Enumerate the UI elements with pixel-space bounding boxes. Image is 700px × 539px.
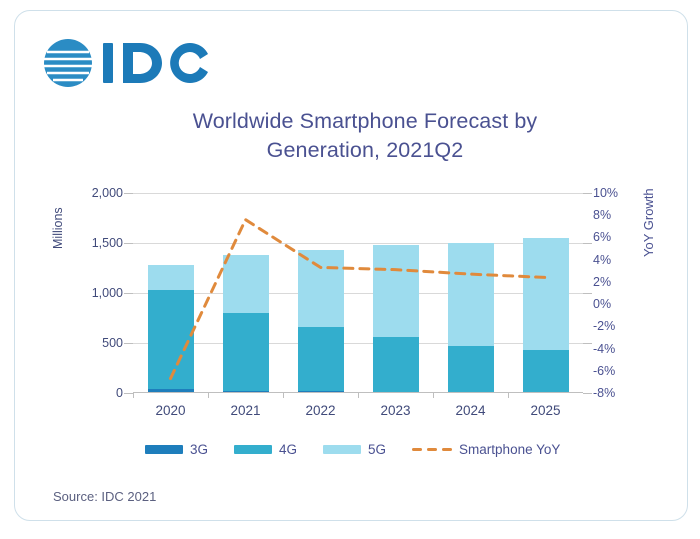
y-axis-tick: [124, 193, 133, 194]
bar-column: [523, 238, 569, 393]
legend-dashed-line-icon: [412, 444, 452, 455]
x-axis-tick: [133, 393, 134, 398]
bar-column: [298, 250, 344, 393]
x-axis-tick-label: 2025: [530, 403, 560, 418]
legend-swatch-5g: [323, 445, 361, 454]
legend-label: 4G: [279, 442, 297, 457]
bar-segment-5g: [448, 243, 494, 346]
legend-swatch-3g: [145, 445, 183, 454]
x-axis-tick: [358, 393, 359, 398]
legend-item[interactable]: 5G: [323, 442, 386, 457]
bar-segment-4g: [148, 290, 194, 389]
chart-title-line1: Worldwide Smartphone Forecast by: [135, 107, 595, 136]
y-axis-right-tick: [583, 293, 592, 294]
x-axis-tick-label: 2021: [230, 403, 260, 418]
bar-segment-4g: [373, 337, 419, 392]
chart-title: Worldwide Smartphone Forecast by Generat…: [135, 107, 595, 165]
legend-item[interactable]: 3G: [145, 442, 208, 457]
bar-segment-5g: [148, 265, 194, 290]
bar-segment-5g: [373, 245, 419, 337]
y-axis-left-tick-label: 2,000: [92, 186, 123, 200]
y-axis-right-tick-label: 8%: [593, 208, 611, 222]
y-axis-right-tick-label: 2%: [593, 275, 611, 289]
y-axis-left-tick-label: 1,000: [92, 286, 123, 300]
y-axis-left-tick-label: 500: [102, 336, 123, 350]
bar-column: [448, 243, 494, 393]
bar-segment-5g: [298, 250, 344, 327]
y-axis-tick: [124, 243, 133, 244]
x-axis-labels: 202020212022202320242025: [133, 403, 583, 423]
chart-screenshot: Worldwide Smartphone Forecast by Generat…: [0, 0, 700, 539]
bar-column: [223, 255, 269, 393]
y-axis-right-title: YoY Growth: [641, 188, 656, 257]
idc-wordmark: [103, 43, 208, 83]
legend-item[interactable]: Smartphone YoY: [412, 442, 560, 457]
x-axis-tick: [433, 393, 434, 398]
bar-column: [148, 265, 194, 393]
y-axis-right-tick: [583, 343, 592, 344]
y-axis-right-tick-label: 10%: [593, 186, 618, 200]
y-axis-left-title: Millions: [51, 207, 65, 249]
legend-swatch-4g: [234, 445, 272, 454]
y-axis-right-labels: 10%8%6%4%2%0%-2%-4%-6%-8%: [593, 193, 633, 393]
y-axis-right-tick-label: 4%: [593, 253, 611, 267]
bar-segment-5g: [223, 255, 269, 313]
y-axis-right-tick-label: -8%: [593, 386, 615, 400]
chart-title-line2: Generation, 2021Q2: [135, 136, 595, 165]
y-axis-left-tick-label: 1,500: [92, 236, 123, 250]
bar-series-group: [133, 193, 583, 393]
chart-legend: 3G4G5GSmartphone YoY: [145, 438, 605, 460]
y-axis-right-tick-label: 0%: [593, 297, 611, 311]
y-axis-right-tick: [583, 393, 592, 394]
x-axis-tick-label: 2023: [380, 403, 410, 418]
idc-logo: [41, 37, 231, 89]
globe-icon: [44, 39, 92, 87]
y-axis-tick: [124, 393, 133, 394]
x-axis-tick-label: 2022: [305, 403, 335, 418]
x-axis-tick: [283, 393, 284, 398]
bar-segment-4g: [523, 350, 569, 392]
y-axis-left-tick-label: 0: [116, 386, 123, 400]
bar-segment-5g: [523, 238, 569, 350]
bar-column: [373, 245, 419, 393]
x-axis-tick-label: 2024: [455, 403, 485, 418]
x-axis-tick-label: 2020: [155, 403, 185, 418]
y-axis-right-tick-label: -2%: [593, 319, 615, 333]
x-axis-tick: [208, 393, 209, 398]
y-axis-tick: [124, 343, 133, 344]
plot-area: [133, 193, 583, 393]
bar-segment-4g: [448, 346, 494, 393]
y-axis-right-tick-label: -4%: [593, 342, 615, 356]
y-axis-left-labels: 05001,0001,5002,000: [77, 193, 123, 393]
bar-segment-4g: [298, 327, 344, 392]
chart-card: Worldwide Smartphone Forecast by Generat…: [14, 10, 688, 521]
y-axis-tick: [124, 293, 133, 294]
y-axis-right-tick: [583, 243, 592, 244]
y-axis-right-tick: [583, 193, 592, 194]
x-axis-tick: [508, 393, 509, 398]
legend-label: Smartphone YoY: [459, 442, 560, 457]
y-axis-right-tick-label: -6%: [593, 364, 615, 378]
source-note: Source: IDC 2021: [53, 489, 156, 504]
legend-item[interactable]: 4G: [234, 442, 297, 457]
y-axis-right-tick-label: 6%: [593, 230, 611, 244]
legend-label: 5G: [368, 442, 386, 457]
legend-label: 3G: [190, 442, 208, 457]
bar-segment-4g: [223, 313, 269, 391]
